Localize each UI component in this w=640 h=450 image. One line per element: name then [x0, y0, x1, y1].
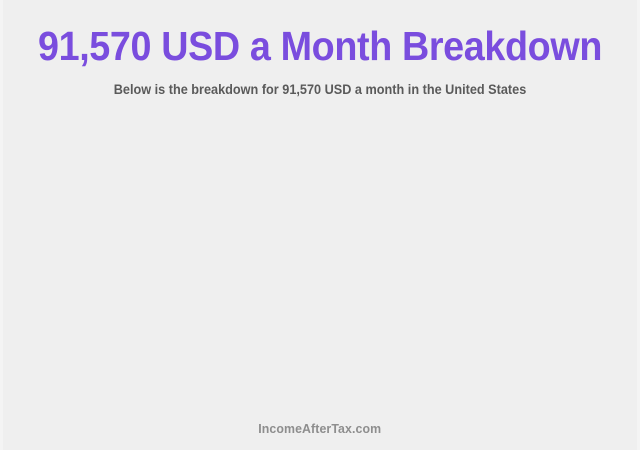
page-header: 91,570 USD a Month Breakdown Below is th…	[0, 0, 640, 98]
breakdown-page: 91,570 USD a Month Breakdown Below is th…	[0, 0, 640, 450]
page-footer: IncomeAfterTax.com	[0, 420, 640, 450]
page-title: 91,570 USD a Month Breakdown	[26, 24, 615, 68]
site-watermark: IncomeAfterTax.com	[259, 421, 382, 437]
breakdown-content-area	[0, 98, 640, 420]
page-subtitle: Below is the breakdown for 91,570 USD a …	[19, 82, 621, 98]
